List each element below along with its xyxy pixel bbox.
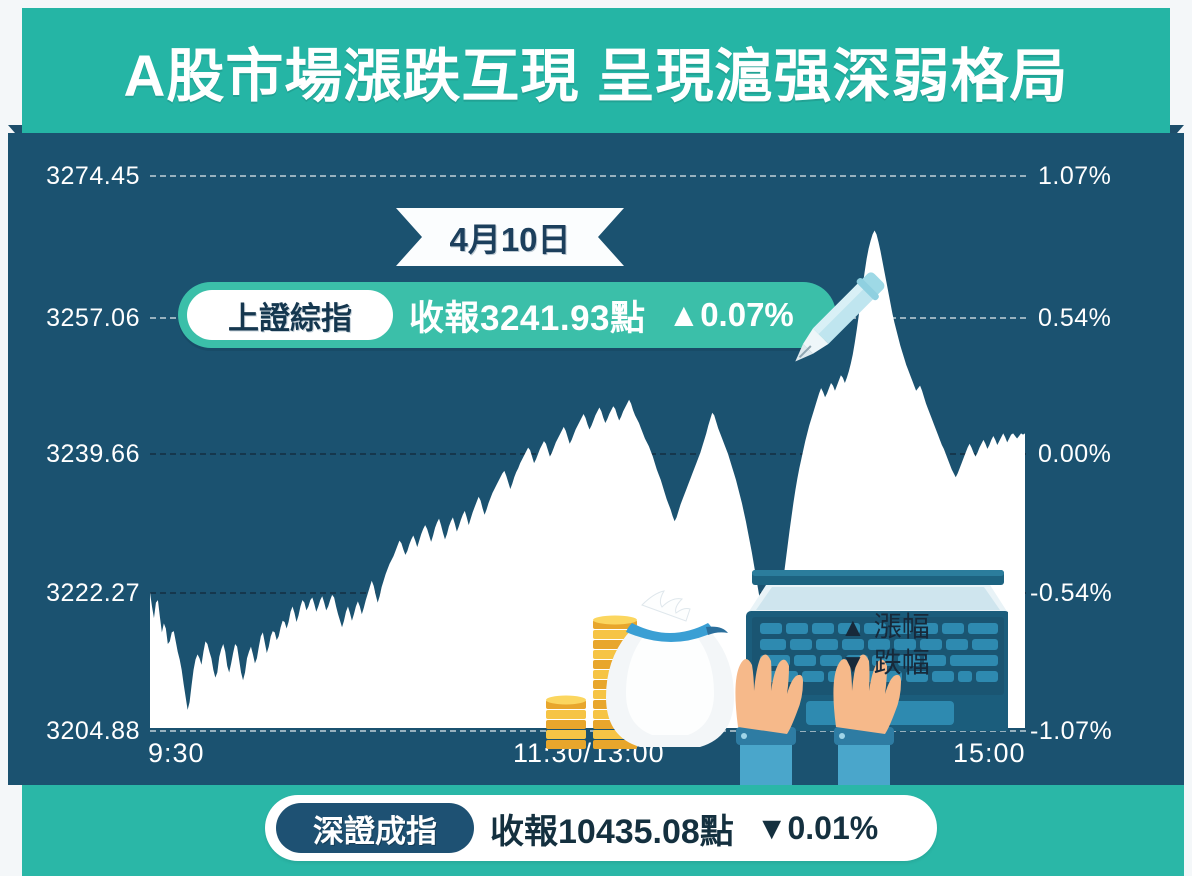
coin-stack-small <box>546 696 586 750</box>
y-left-tick-2: 3239.66 <box>8 440 140 469</box>
fountain-pen-icon <box>772 252 902 382</box>
triangle-down-icon: ▼ <box>756 810 788 846</box>
legend-item-down: ▼跌幅 <box>840 645 930 681</box>
y-right-tick-1: 0.54% <box>1038 304 1111 333</box>
secondary-index-callout: 深證成指 收報10435.08點 ▼0.01% <box>265 795 937 861</box>
date-banner-label: 4月10日 <box>396 208 624 266</box>
triangle-down-icon: ▼ <box>840 648 866 678</box>
triangle-up-icon: ▲ <box>668 296 701 333</box>
legend-item-up: ▲漲幅 <box>840 609 930 645</box>
primary-index-value: 收報3241.93點 <box>409 290 646 341</box>
infographic-root: A股市場漲跌互現 呈現滬强深弱格局 3274.45 3257.06 3239.6… <box>0 0 1192 876</box>
y-left-tick-1: 3257.06 <box>8 304 140 333</box>
primary-index-callout: 上證綜指 收報3241.93點 ▲0.07% <box>178 282 836 348</box>
illustration-group <box>538 565 1008 795</box>
y-left-tick-3: 3222.27 <box>8 579 140 608</box>
y-left-tick-0: 3274.45 <box>8 162 140 191</box>
legend-label-up: 漲幅 <box>874 611 930 642</box>
y-right-tick-0: 1.07% <box>1038 162 1111 191</box>
secondary-index-name: 深證成指 <box>276 803 474 853</box>
date-banner: 4月10日 <box>396 208 624 266</box>
y-right-tick-3: -0.54% <box>1030 579 1112 608</box>
secondary-index-change: ▼0.01% <box>756 810 878 847</box>
secondary-index-change-pct: 0.01% <box>787 810 878 846</box>
y-left-tick-4: 3204.88 <box>8 717 140 746</box>
triangle-up-icon: ▲ <box>840 612 866 642</box>
y-right-tick-2: 0.00% <box>1038 440 1111 469</box>
header: A股市場漲跌互現 呈現滬强深弱格局 <box>0 0 1192 150</box>
legend-label-down: 跌幅 <box>874 647 930 678</box>
page-title: A股市場漲跌互現 呈現滬强深弱格局 <box>22 8 1170 133</box>
primary-index-name: 上證綜指 <box>187 290 393 340</box>
money-bag-icon <box>606 591 734 747</box>
chart-legend: ▲漲幅 ▼跌幅 <box>840 609 930 681</box>
x-tick-0: 9:30 <box>148 738 205 769</box>
header-band: A股市場漲跌互現 呈現滬强深弱格局 <box>22 8 1170 133</box>
secondary-index-value: 收報10435.08點 <box>490 804 734 853</box>
y-right-tick-4: -1.07% <box>1030 717 1112 746</box>
